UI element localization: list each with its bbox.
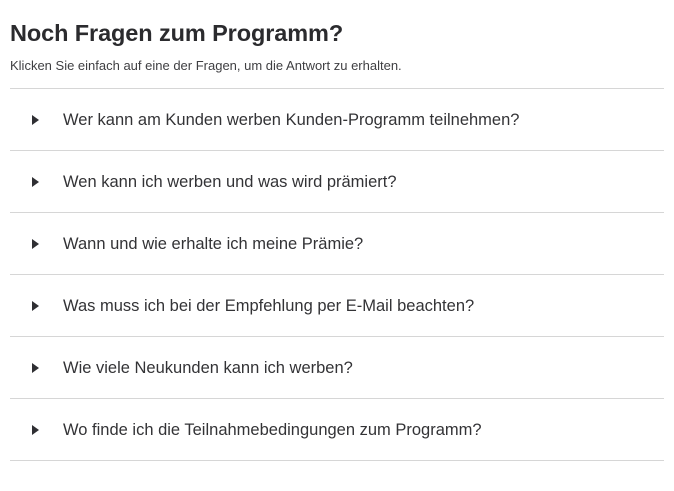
faq-item[interactable]: Wer kann am Kunden werben Kunden-Program… xyxy=(10,89,664,151)
faq-question-label: Wie viele Neukunden kann ich werben? xyxy=(54,357,353,379)
faq-question-label: Wo finde ich die Teilnahmebedingungen zu… xyxy=(54,419,482,441)
page-subtitle: Klicken Sie einfach auf eine der Fragen,… xyxy=(10,57,664,75)
triangle-right-icon[interactable] xyxy=(10,115,54,125)
faq-question-label: Wann und wie erhalte ich meine Prämie? xyxy=(54,233,363,255)
faq-item[interactable]: Wen kann ich werben und was wird prämier… xyxy=(10,151,664,213)
faq-question-label: Was muss ich bei der Empfehlung per E-Ma… xyxy=(54,295,474,317)
faq-question-label: Wen kann ich werben und was wird prämier… xyxy=(54,171,397,193)
faq-page: Noch Fragen zum Programm? Klicken Sie ei… xyxy=(0,0,674,491)
triangle-right-icon[interactable] xyxy=(10,301,54,311)
faq-list: Wer kann am Kunden werben Kunden-Program… xyxy=(10,88,664,461)
faq-item[interactable]: Wann und wie erhalte ich meine Prämie? xyxy=(10,213,664,275)
triangle-right-icon[interactable] xyxy=(10,363,54,373)
triangle-right-icon[interactable] xyxy=(10,177,54,187)
triangle-right-icon[interactable] xyxy=(10,239,54,249)
faq-header: Noch Fragen zum Programm? Klicken Sie ei… xyxy=(0,0,674,75)
faq-item[interactable]: Wie viele Neukunden kann ich werben? xyxy=(10,337,664,399)
page-title: Noch Fragen zum Programm? xyxy=(10,18,664,48)
faq-question-label: Wer kann am Kunden werben Kunden-Program… xyxy=(54,109,519,131)
triangle-right-icon[interactable] xyxy=(10,425,54,435)
faq-item[interactable]: Wo finde ich die Teilnahmebedingungen zu… xyxy=(10,399,664,461)
faq-item[interactable]: Was muss ich bei der Empfehlung per E-Ma… xyxy=(10,275,664,337)
